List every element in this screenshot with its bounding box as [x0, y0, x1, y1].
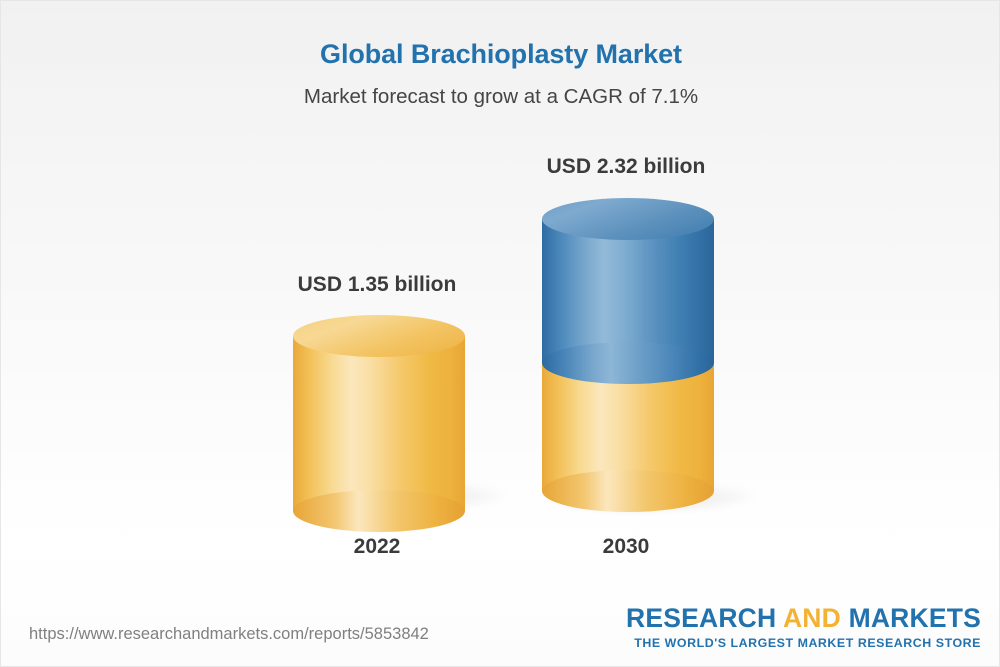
- bar-group-2022: USD 1.35 billion: [247, 271, 507, 511]
- logo-wordmark: RESEARCH AND MARKETS: [626, 605, 981, 632]
- bar-group-2030: USD 2.32 billion: [496, 153, 756, 512]
- category-label-2030: 2030: [496, 534, 756, 560]
- cylinder-top-cap: [542, 198, 714, 240]
- cylinder-bottom-cap: [293, 490, 465, 532]
- cylinder-segment-seam: [542, 342, 714, 384]
- category-label-2022: 2022: [247, 534, 507, 560]
- cylinder-top-cap: [293, 315, 465, 357]
- cylinder-2022: [247, 315, 507, 511]
- cylinder-2030: [496, 198, 756, 512]
- research-and-markets-logo[interactable]: RESEARCH AND MARKETS THE WORLD'S LARGEST…: [626, 605, 981, 649]
- logo-word-markets: MARKETS: [849, 603, 981, 633]
- cylinder-segment-yellow: [293, 336, 465, 511]
- bar-value-label-2030: USD 2.32 billion: [496, 153, 756, 180]
- cylinder-bottom-cap: [542, 470, 714, 512]
- cylinder-body-2030: [542, 198, 714, 512]
- report-url[interactable]: https://www.researchandmarkets.com/repor…: [29, 623, 429, 645]
- chart-plot-area: USD 1.35 billion USD 2.32 billion: [1, 1, 1000, 667]
- logo-word-research: RESEARCH: [626, 603, 776, 633]
- logo-tagline: THE WORLD'S LARGEST MARKET RESEARCH STOR…: [626, 632, 981, 649]
- bar-value-label-2022: USD 1.35 billion: [247, 271, 507, 298]
- infographic-card: Global Brachioplasty Market Market forec…: [0, 0, 1000, 667]
- logo-word-and: AND: [783, 603, 841, 633]
- cylinder-body-2022: [293, 315, 465, 511]
